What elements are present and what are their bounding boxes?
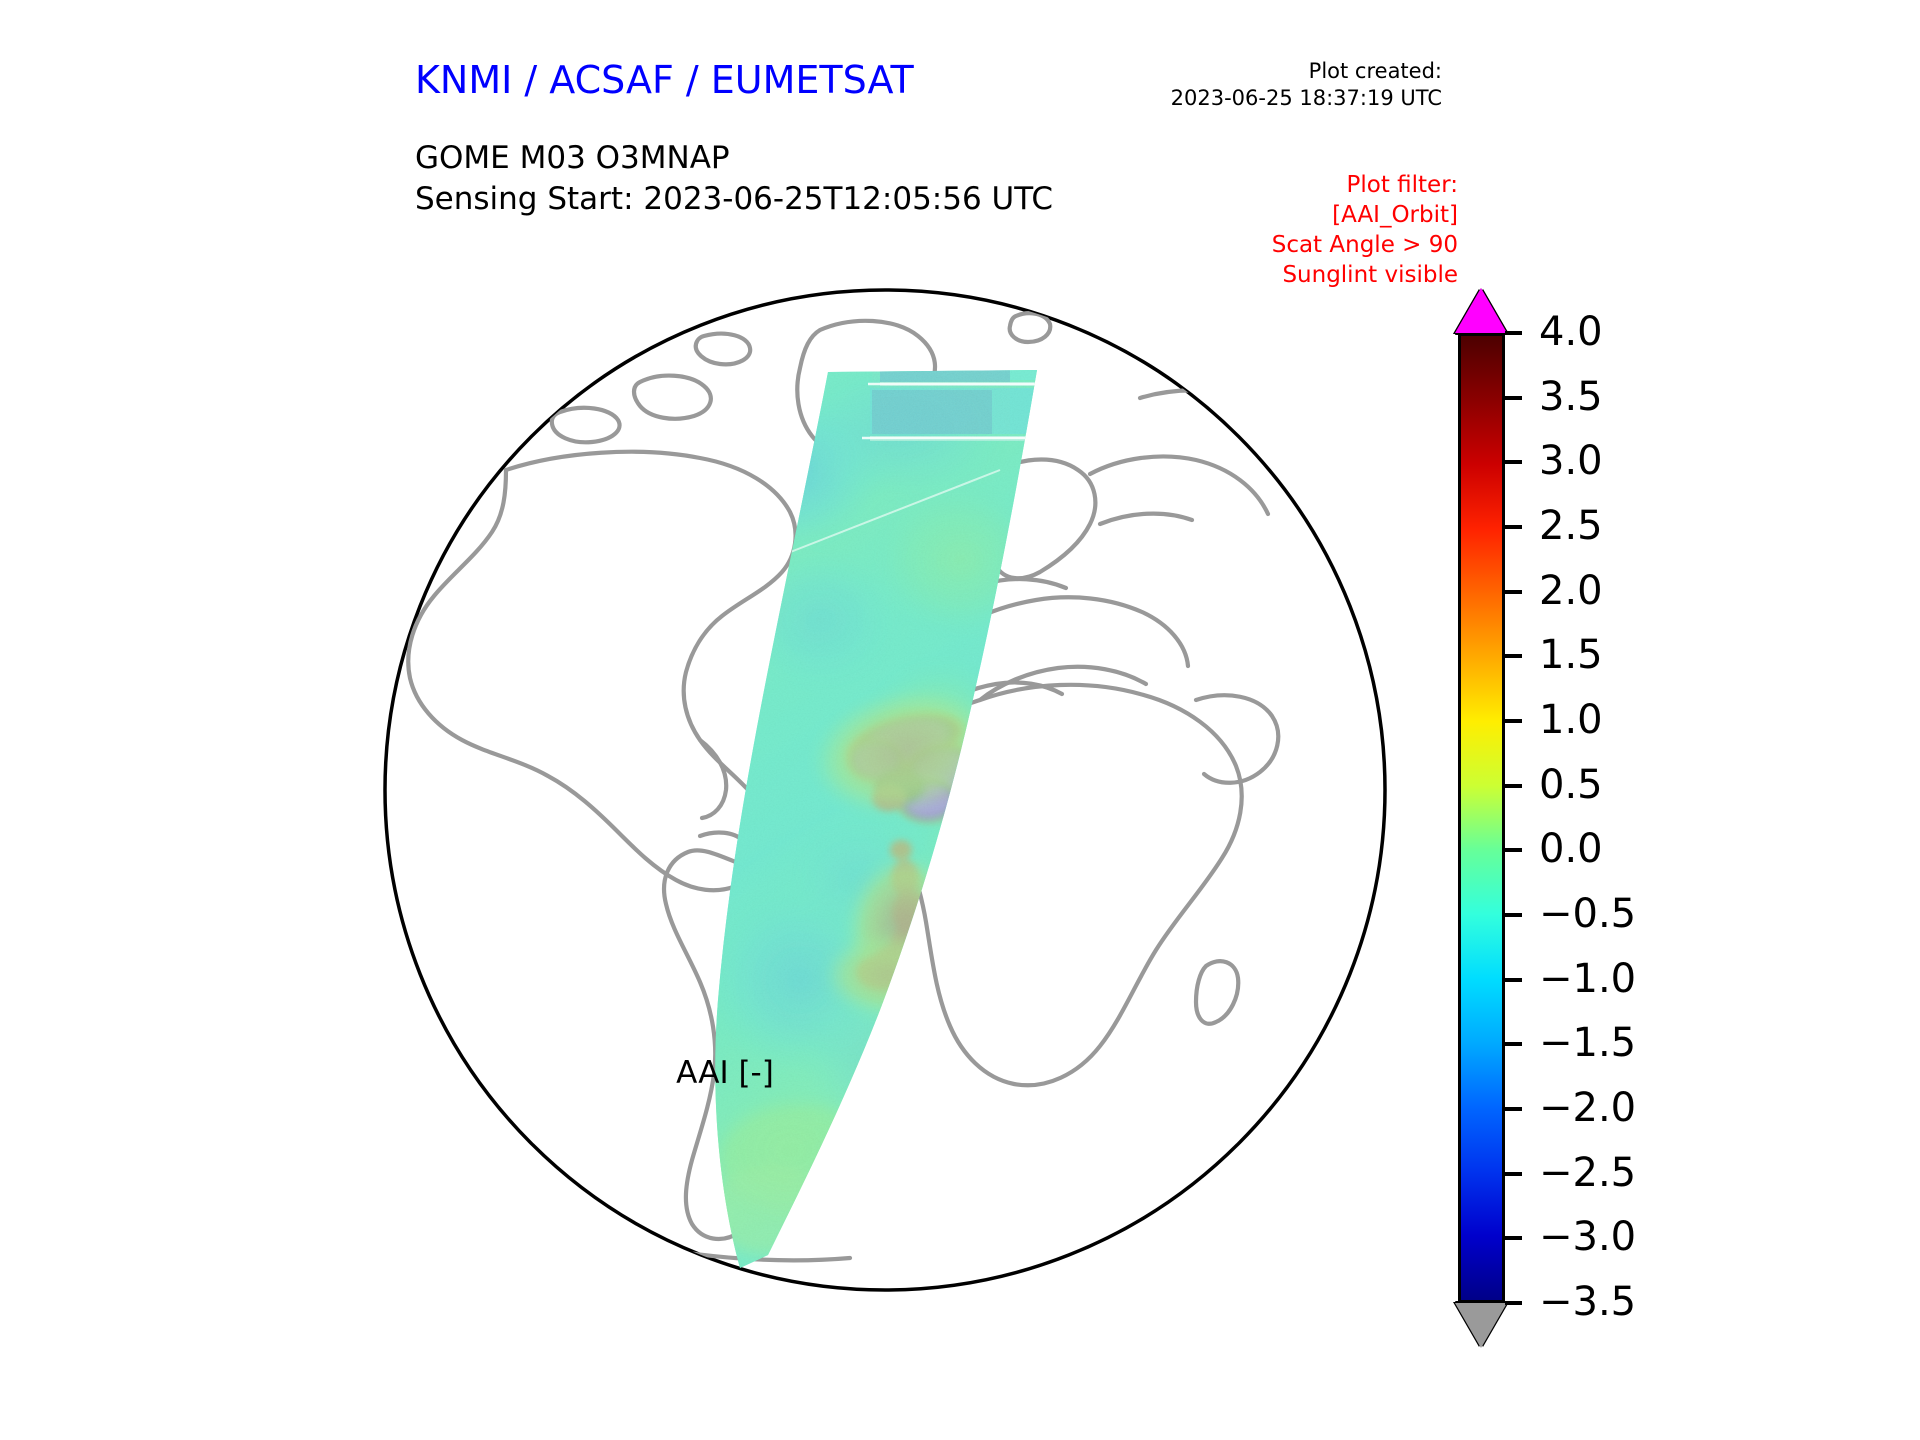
colorbar-tick-mark xyxy=(1505,590,1522,594)
colorbar-tick-label: 2.0 xyxy=(1539,569,1603,613)
colorbar-tick-label: −1.5 xyxy=(1539,1021,1636,1065)
colorbar: 4.03.53.02.52.01.51.00.50.0−0.5−1.0−1.5−… xyxy=(1442,288,1772,1298)
colorbar-tick-mark xyxy=(1505,978,1522,982)
colorbar-tick-mark xyxy=(1505,913,1522,917)
colorbar-tick-label: −0.5 xyxy=(1539,892,1636,936)
filter-name: [AAI_Orbit] xyxy=(1272,200,1458,230)
plot-filter-block: Plot filter: [AAI_Orbit] Scat Angle > 90… xyxy=(1272,170,1458,291)
plot-created-block: Plot created: 2023-06-25 18:37:19 UTC xyxy=(1171,58,1442,113)
instrument-title: GOME M03 O3MNAP xyxy=(415,138,1053,179)
colorbar-tick-mark xyxy=(1505,525,1522,529)
filter-note: Sunglint visible xyxy=(1272,260,1458,290)
colorbar-over-arrow xyxy=(1455,288,1507,333)
colorbar-tick-label: 0.5 xyxy=(1539,763,1603,807)
colorbar-tick-label: 0.0 xyxy=(1539,827,1603,871)
colorbar-gradient xyxy=(1461,336,1502,1300)
colorbar-tick-mark xyxy=(1505,1172,1522,1176)
colorbar-tick-mark xyxy=(1505,1042,1522,1046)
colorbar-tick-mark xyxy=(1505,784,1522,788)
colorbar-bar xyxy=(1458,333,1505,1303)
colorbar-tick-label: −2.5 xyxy=(1539,1151,1636,1195)
colorbar-under-arrow xyxy=(1455,1303,1507,1348)
filter-condition: Scat Angle > 90 xyxy=(1272,230,1458,260)
colorbar-tick-label: −1.0 xyxy=(1539,957,1636,1001)
colorbar-tick-mark xyxy=(1505,1107,1522,1111)
colorbar-tick-label: 3.0 xyxy=(1539,439,1603,483)
filter-label: Plot filter: xyxy=(1272,170,1458,200)
colorbar-tick-label: 4.0 xyxy=(1539,310,1603,354)
colorbar-tick-mark xyxy=(1505,1301,1522,1305)
colorbar-tick-mark xyxy=(1505,848,1522,852)
plot-created-label: Plot created: xyxy=(1171,58,1442,85)
colorbar-tick-mark xyxy=(1505,460,1522,464)
colorbar-tick-mark xyxy=(1505,331,1522,335)
colorbar-tick-mark xyxy=(1505,719,1522,723)
colorbar-tick-mark xyxy=(1505,1236,1522,1240)
colorbar-tick-label: −3.0 xyxy=(1539,1215,1636,1259)
organisation-header: KNMI / ACSAF / EUMETSAT xyxy=(415,58,914,102)
colorbar-tick-label: 1.5 xyxy=(1539,633,1603,677)
colorbar-tick-label: 2.5 xyxy=(1539,504,1603,548)
sensing-start-title: Sensing Start: 2023-06-25T12:05:56 UTC xyxy=(415,179,1053,220)
title-block: GOME M03 O3MNAP Sensing Start: 2023-06-2… xyxy=(415,138,1053,220)
colorbar-ticks: 4.03.53.02.52.01.51.00.50.0−0.5−1.0−1.5−… xyxy=(1505,333,1765,1303)
colorbar-tick-label: 1.0 xyxy=(1539,698,1603,742)
colorbar-tick-mark xyxy=(1505,654,1522,658)
plot-created-value: 2023-06-25 18:37:19 UTC xyxy=(1171,85,1442,112)
colorbar-tick-mark xyxy=(1505,396,1522,400)
colorbar-tick-label: −2.0 xyxy=(1539,1086,1636,1130)
colorbar-tick-label: −3.5 xyxy=(1539,1280,1636,1324)
colorbar-tick-label: 3.5 xyxy=(1539,375,1603,419)
page-title: AAI [-] xyxy=(0,1055,1450,1091)
